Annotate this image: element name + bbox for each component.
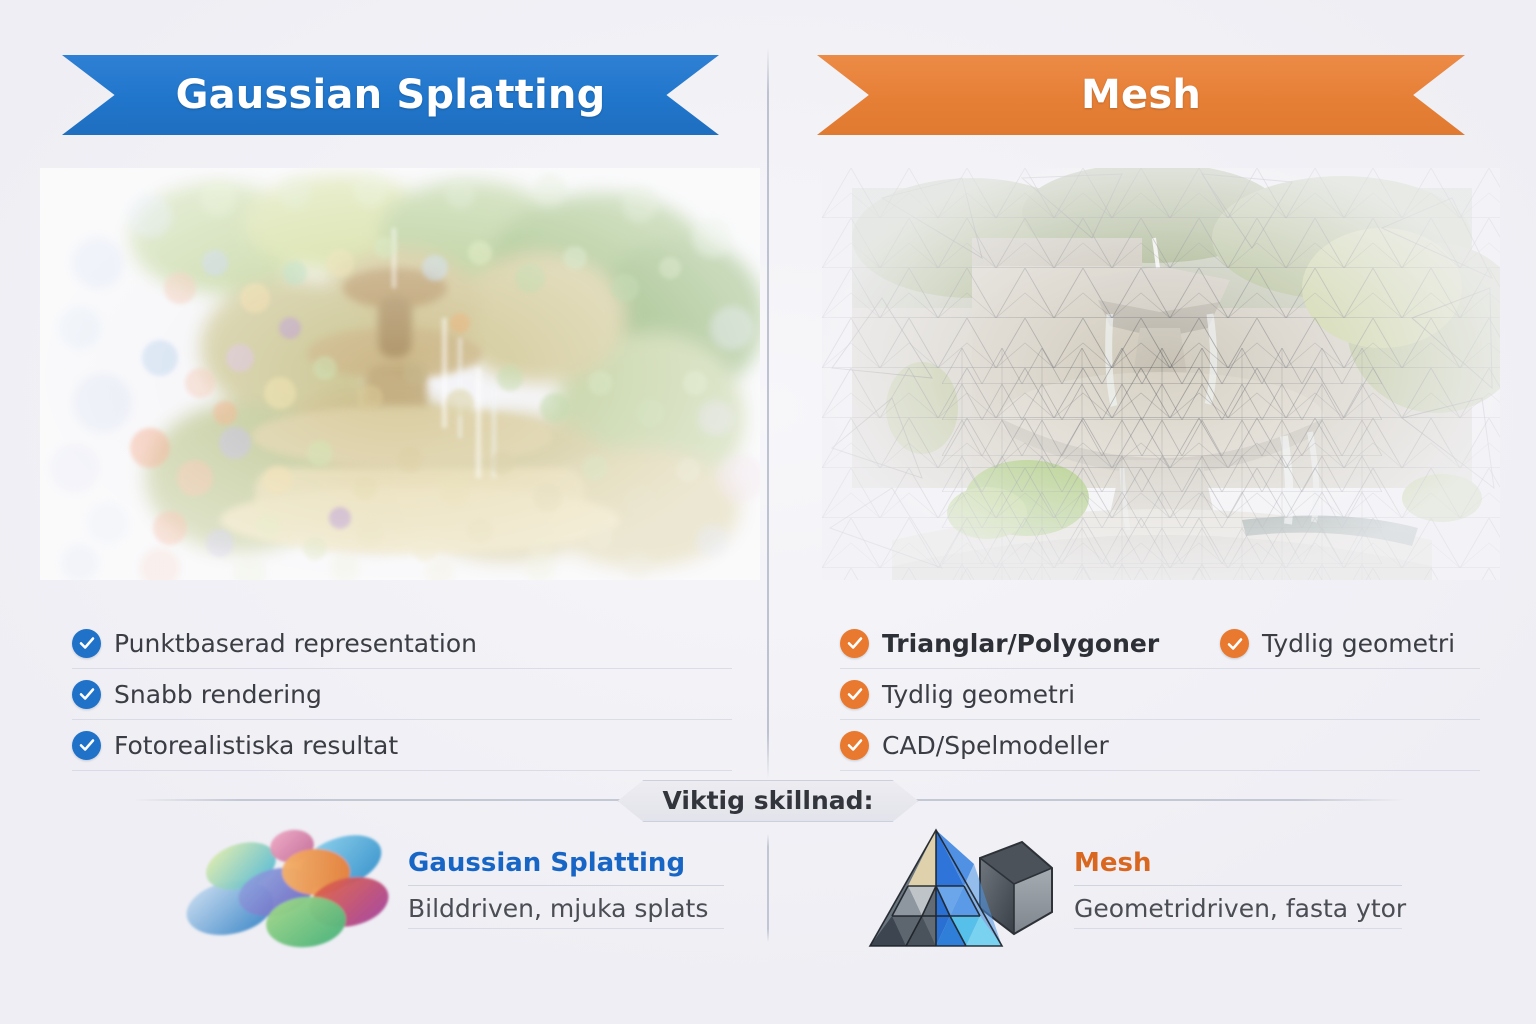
- feature-row: Fotorealistiska resultat: [72, 720, 732, 771]
- mesh-wireframe-fountain-graphic: [822, 168, 1500, 580]
- check-icon: [72, 680, 101, 709]
- feature-row: Snabb rendering: [72, 669, 732, 720]
- feature-row: CAD/Spelmodeller: [840, 720, 1480, 771]
- summary-subtitle: Bilddriven, mjuka splats: [408, 886, 724, 929]
- check-icon: [72, 731, 101, 760]
- feature-item[interactable]: Snabb rendering: [72, 680, 322, 709]
- infographic-page: Gaussian Splatting Mesh: [0, 0, 1536, 1024]
- summary-mesh: Mesh Geometridriven, fasta ytor: [862, 822, 1402, 954]
- check-icon: [1220, 629, 1249, 658]
- feature-item[interactable]: Punktbaserad representation: [72, 629, 477, 658]
- feature-label: Tydlig geometri: [882, 680, 1075, 709]
- feature-item[interactable]: Tydlig geometri: [840, 680, 1075, 709]
- summary-title: Mesh: [1074, 848, 1402, 886]
- illustration-mesh: [822, 168, 1500, 580]
- feature-row: Tydlig geometri: [840, 669, 1480, 720]
- feature-label: Trianglar/Polygoner: [882, 629, 1159, 658]
- summary-text-right: Mesh Geometridriven, fasta ytor: [1074, 848, 1402, 929]
- header-title-right: Mesh: [1081, 72, 1201, 118]
- check-icon: [840, 629, 869, 658]
- gaussian-splat-fountain-graphic: [40, 168, 760, 580]
- check-icon: [840, 680, 869, 709]
- feature-item[interactable]: Fotorealistiska resultat: [72, 731, 398, 760]
- feature-row: Punktbaserad representation: [72, 618, 732, 669]
- feature-list-gaussian-splatting: Punktbaserad representation Snabb render…: [72, 618, 732, 771]
- feature-label: CAD/Spelmodeller: [882, 731, 1109, 760]
- summary-subtitle: Geometridriven, fasta ytor: [1074, 886, 1402, 929]
- feature-list-mesh: Trianglar/Polygoner Tydlig geometri Tydl…: [840, 618, 1480, 771]
- summary-title: Gaussian Splatting: [408, 848, 724, 886]
- header-banner-gaussian-splatting: Gaussian Splatting: [62, 55, 719, 135]
- summary-gaussian-splatting: Gaussian Splatting Bilddriven, mjuka spl…: [184, 822, 724, 954]
- divider-rule-right: [915, 799, 1405, 801]
- illustration-gaussian-splatting: [40, 168, 760, 580]
- feature-label: Snabb rendering: [114, 680, 322, 709]
- feature-label: Tydlig geometri: [1262, 629, 1455, 658]
- gaussian-blobs-icon: [184, 824, 394, 952]
- feature-row: Trianglar/Polygoner Tydlig geometri: [840, 618, 1480, 669]
- polyhedron-mesh-icon: [862, 824, 1060, 952]
- center-divider: [767, 48, 769, 778]
- feature-item[interactable]: CAD/Spelmodeller: [840, 731, 1109, 760]
- summary-divider: [767, 834, 769, 942]
- header-banner-mesh: Mesh: [817, 55, 1465, 135]
- feature-label: Punktbaserad representation: [114, 629, 477, 658]
- summary-text-left: Gaussian Splatting Bilddriven, mjuka spl…: [408, 848, 724, 929]
- feature-label: Fotorealistiska resultat: [114, 731, 398, 760]
- key-difference-label: Viktig skillnad:: [618, 780, 919, 822]
- feature-item-secondary[interactable]: Tydlig geometri: [1220, 618, 1455, 669]
- header-title-left: Gaussian Splatting: [176, 72, 606, 118]
- key-difference-divider: Viktig skillnad:: [0, 780, 1536, 820]
- check-icon: [840, 731, 869, 760]
- divider-rule-left: [132, 799, 622, 801]
- check-icon: [72, 629, 101, 658]
- feature-item[interactable]: Trianglar/Polygoner: [840, 629, 1159, 658]
